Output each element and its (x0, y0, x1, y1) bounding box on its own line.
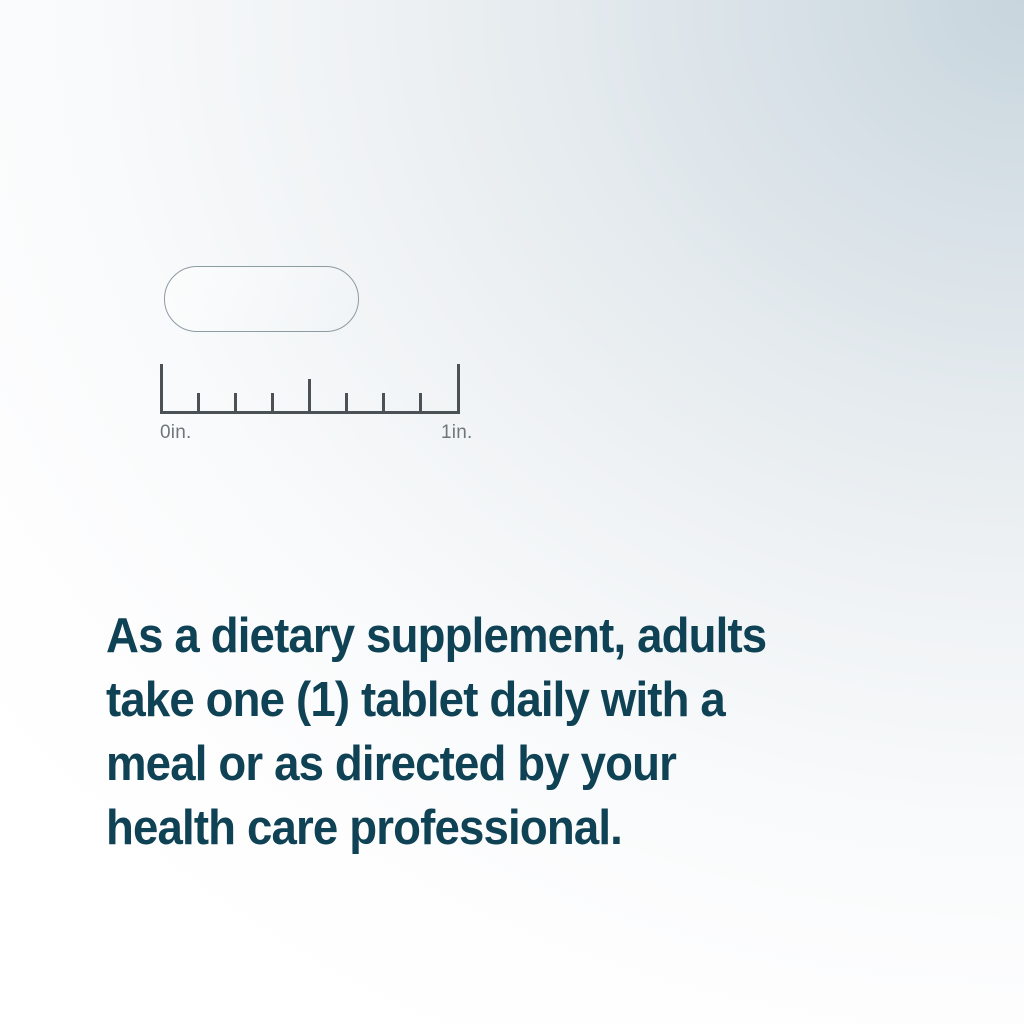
tablet-illustration (164, 266, 359, 332)
ruler-tick-1in (457, 364, 460, 414)
ruler-labels: 0in. 1in. (160, 422, 470, 450)
directions-text-block: As a dietary supplement, adults take one… (106, 604, 906, 860)
ruler-tick-1-8 (197, 393, 200, 414)
directions-line-2: take one (1) tablet daily with a (106, 668, 850, 732)
ruler-tick-7-8 (419, 393, 422, 414)
ruler-tick-2-8 (234, 393, 237, 414)
ruler-tick-3-8 (271, 393, 274, 414)
directions-line-3: meal or as directed by your (106, 732, 850, 796)
ruler-tick-0in (160, 364, 163, 414)
directions-line-1: As a dietary supplement, adults (106, 604, 850, 668)
ruler-tick-half (308, 379, 311, 414)
supplement-directions-panel: 0in. 1in. As a dietary supplement, adult… (0, 0, 1024, 1024)
ruler-label-end: 1in. (441, 422, 472, 444)
tablet-capsule-shape (164, 266, 359, 332)
ruler-tick-6-8 (382, 393, 385, 414)
size-ruler (160, 362, 460, 414)
ruler-tick-5-8 (345, 393, 348, 414)
ruler-label-start: 0in. (160, 422, 191, 444)
directions-line-4: health care professional. (106, 796, 850, 860)
